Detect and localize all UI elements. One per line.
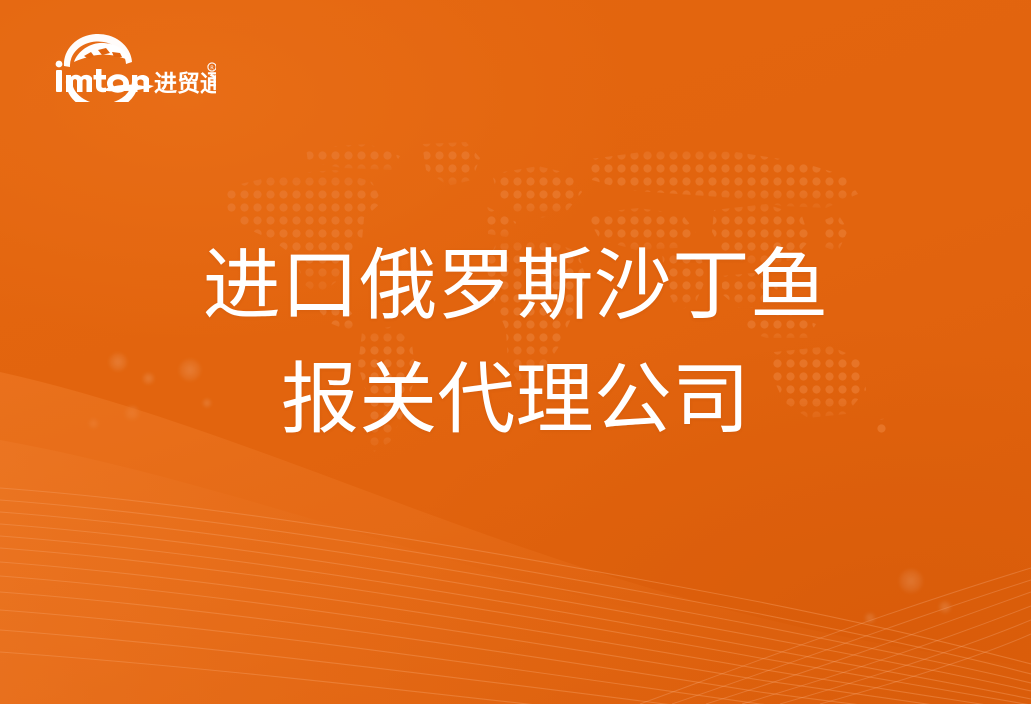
headline-line-1: 进口俄罗斯沙丁鱼	[0, 246, 1031, 324]
thin-line-ribbons	[0, 464, 1031, 704]
brand-logo[interactable]: 进贸通 R	[44, 28, 216, 102]
page-title: 进口俄罗斯沙丁鱼 报关代理公司	[0, 246, 1031, 438]
svg-text:R: R	[210, 66, 214, 72]
logo-chinese: 进贸通	[154, 71, 216, 97]
registered-mark-icon: R	[208, 63, 216, 72]
headline-line-2: 报关代理公司	[0, 360, 1031, 438]
svg-text:进贸通: 进贸通	[154, 71, 216, 97]
promo-banner: 进贸通 R 进口俄罗斯沙丁鱼 报关代理公司	[0, 0, 1031, 704]
